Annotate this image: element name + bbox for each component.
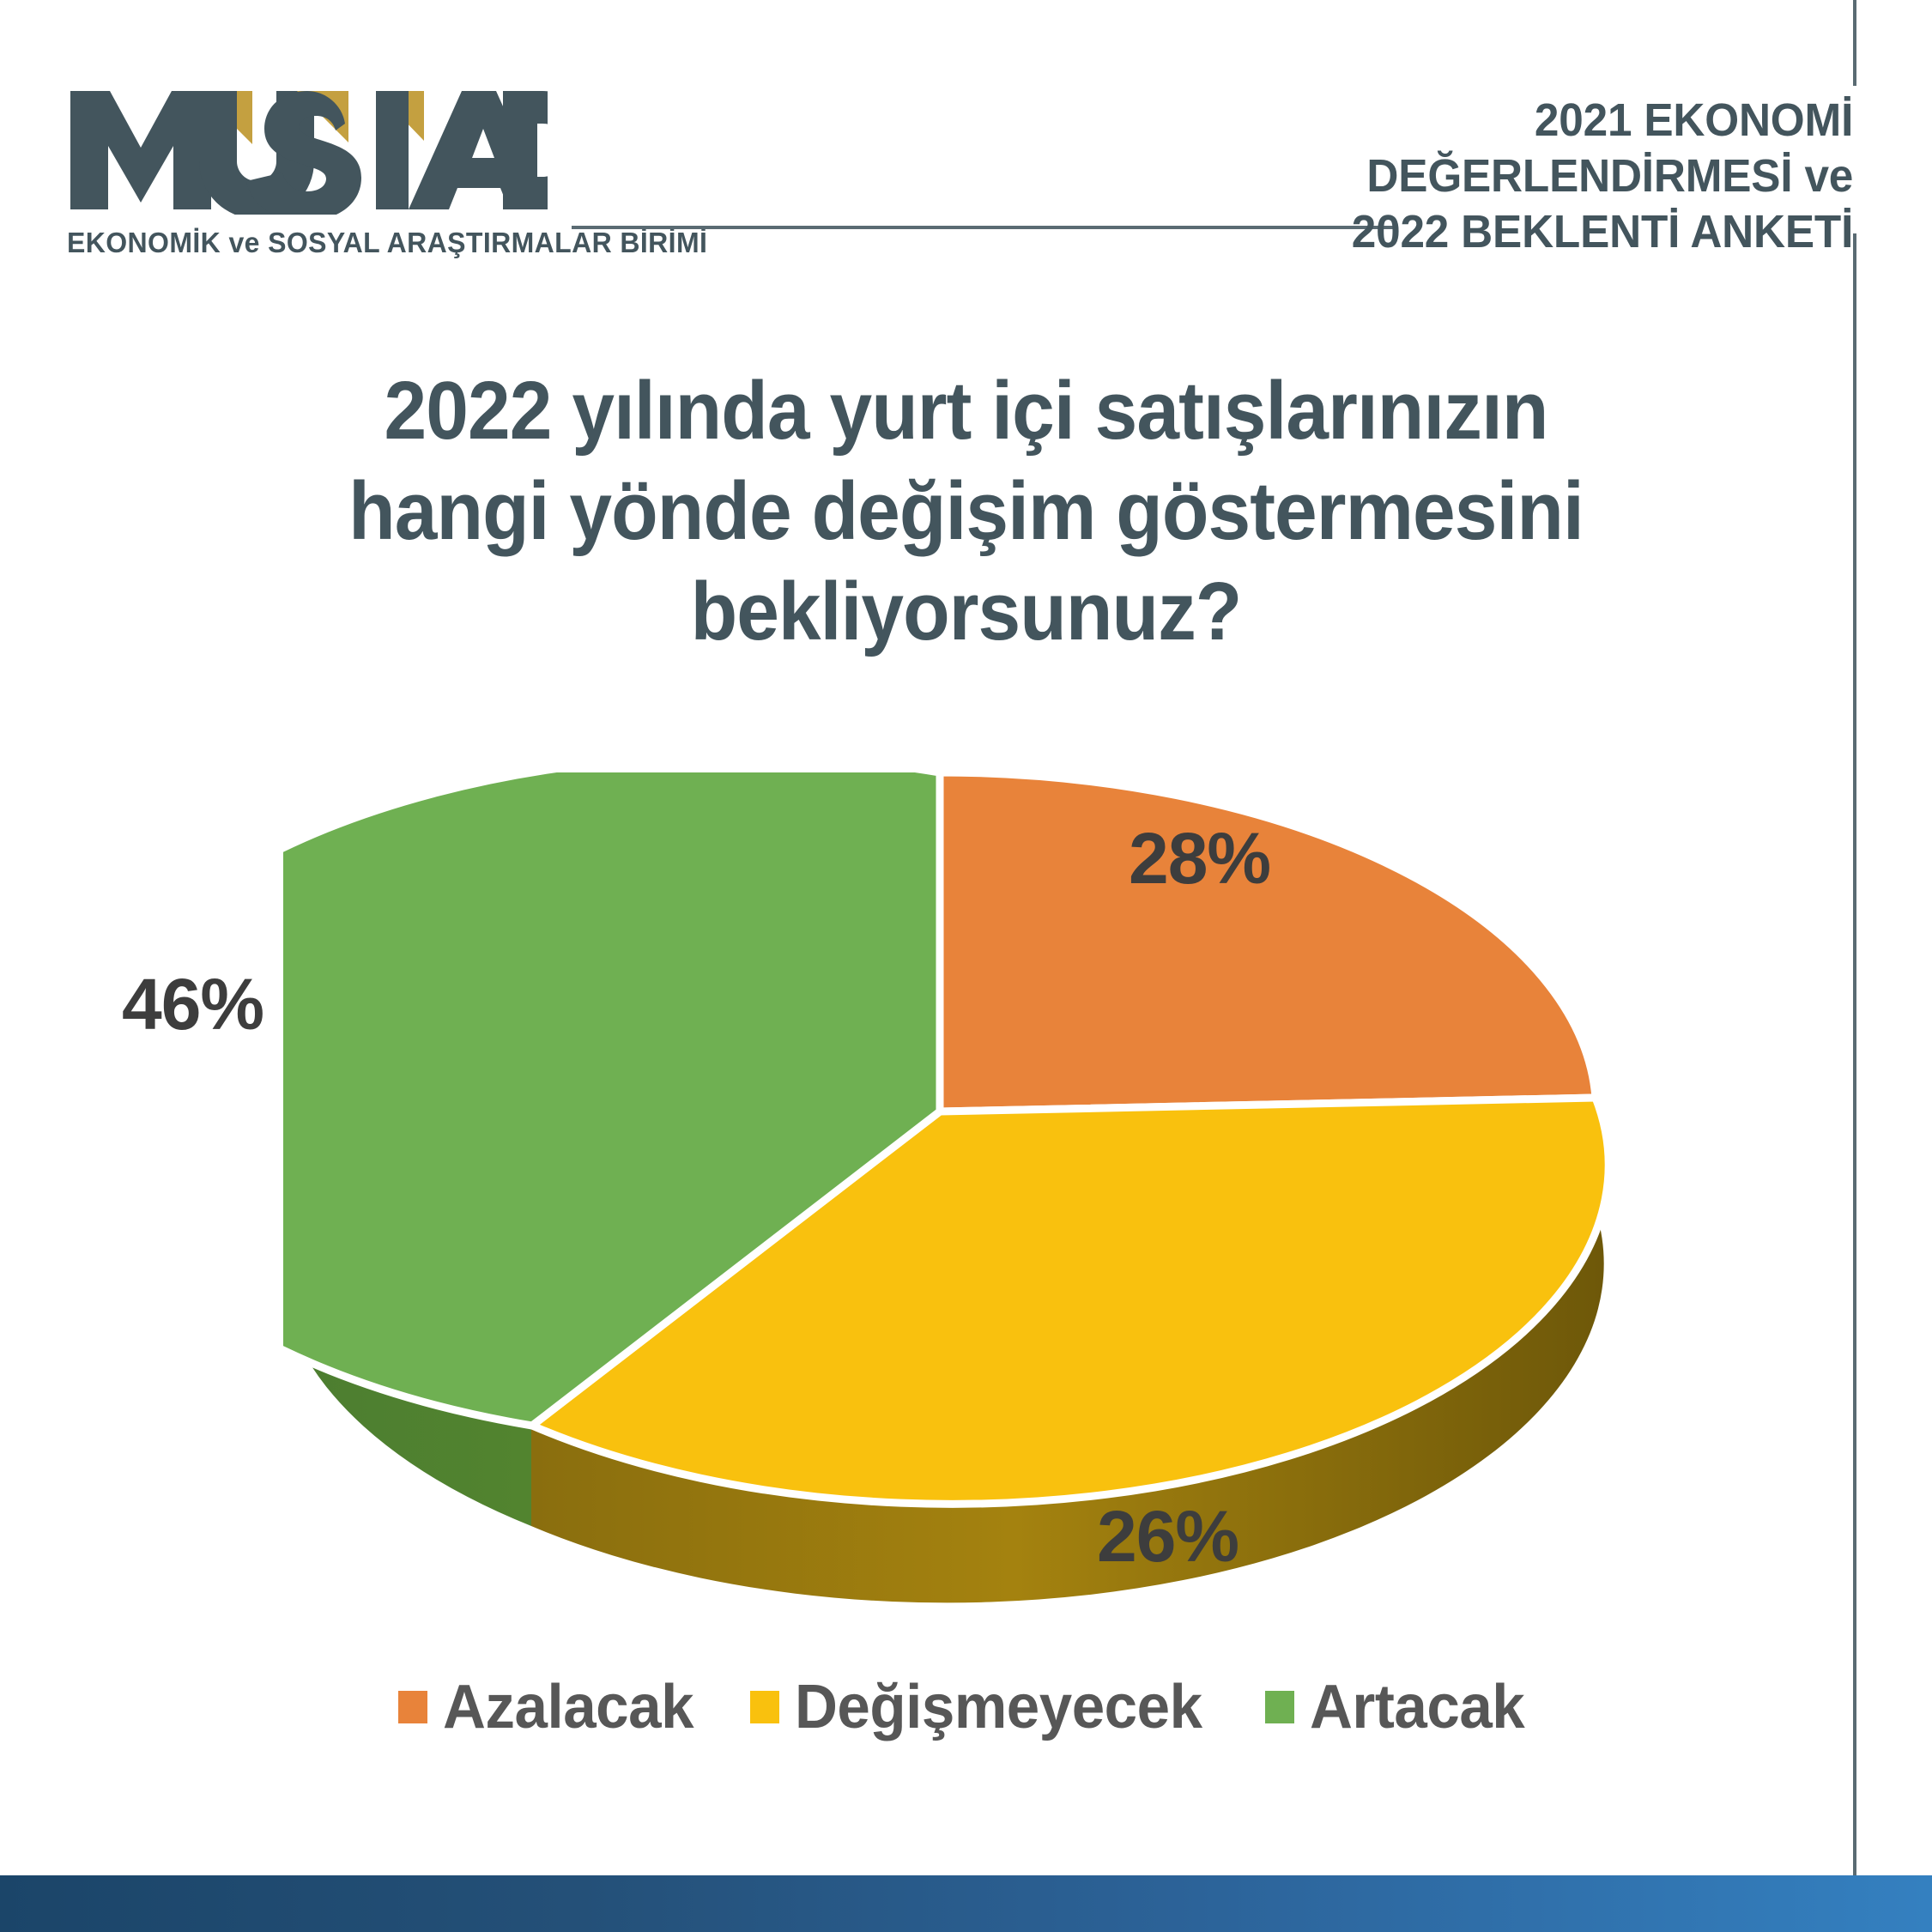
pie-label-artacak: 46% xyxy=(122,963,263,1046)
page-title: 2022 yılında yurt içi satışlarınızın han… xyxy=(0,360,1932,662)
footer-bar xyxy=(0,1875,1932,1932)
legend-label-azalacak: Azalacak xyxy=(443,1672,693,1742)
musiad-logo-icon xyxy=(67,86,548,215)
legend-label-degismeyecek: Değişmeyecek xyxy=(795,1672,1202,1742)
pie-label-azalacak: 28% xyxy=(1129,817,1270,900)
chart-legend: Azalacak Değişmeyecek Artacak xyxy=(0,1672,1932,1742)
legend-item-azalacak[interactable]: Azalacak xyxy=(398,1672,704,1742)
report-title-line-2: DEĞERLENDİRMESİ ve xyxy=(1352,148,1853,204)
brand-logo: EKONOMİK ve SOSYAL ARAŞTIRMALAR BİRİMİ xyxy=(67,86,599,259)
logo-subtitle: EKONOMİK ve SOSYAL ARAŞTIRMALAR BİRİMİ xyxy=(67,227,583,259)
legend-item-artacak[interactable]: Artacak xyxy=(1265,1672,1534,1742)
legend-swatch-icon-degismeyecek xyxy=(750,1691,779,1723)
right-vertical-rule-top xyxy=(1853,0,1856,86)
legend-label-artacak: Artacak xyxy=(1310,1672,1524,1742)
legend-swatch-icon-artacak xyxy=(1265,1691,1294,1723)
report-title-line-3: 2022 BEKLENTİ ANKETİ xyxy=(1352,204,1853,260)
legend-swatch-icon-azalacak xyxy=(398,1691,427,1723)
report-title: 2021 EKONOMİ DEĞERLENDİRMESİ ve 2022 BEK… xyxy=(1325,93,1853,259)
page-title-line-1: 2022 yılında yurt içi satışlarınızın xyxy=(259,360,1673,461)
header-horizontal-rule xyxy=(572,226,1394,229)
legend-item-degismeyecek[interactable]: Değişmeyecek xyxy=(750,1672,1219,1742)
report-title-line-1: 2021 EKONOMİ xyxy=(1352,93,1853,148)
pie-chart-graphic xyxy=(283,772,1674,1639)
page-title-line-2: hangi yönde değişim göstermesini xyxy=(259,461,1673,561)
pie-label-degismeyecek: 26% xyxy=(1097,1495,1239,1578)
pie-chart: 28% 46% 26% xyxy=(0,772,1932,1674)
page-title-line-3: bekliyorsunuz? xyxy=(259,561,1673,662)
